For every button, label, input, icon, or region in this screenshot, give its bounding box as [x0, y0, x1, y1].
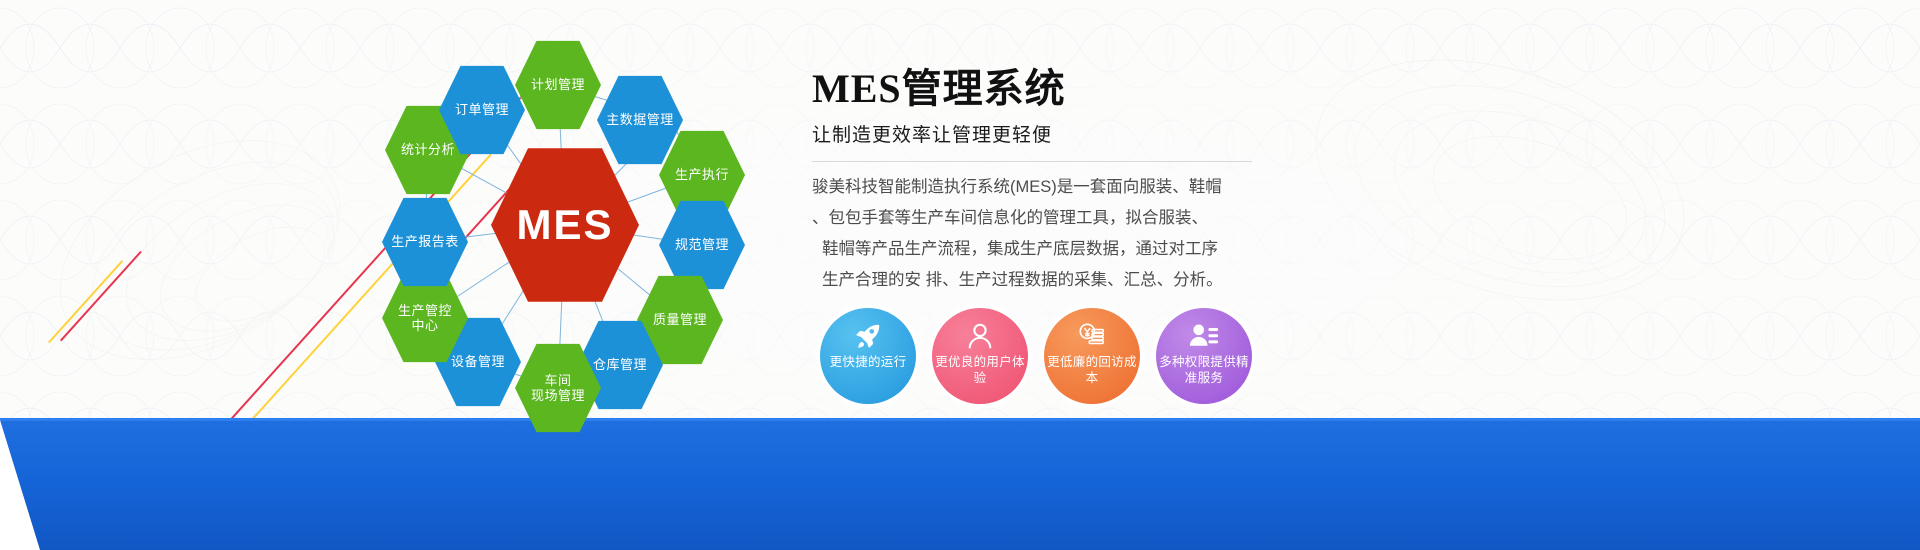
hex-label-control-center: 生产管控 中心: [398, 303, 452, 334]
page-title: MES管理系统: [812, 56, 1292, 114]
page-subtitle: 让制造更效率让管理更轻便: [812, 120, 1292, 147]
paragraph-line: 鞋帽等产品生产流程，集成生产底层数据，通过对工序: [812, 234, 1264, 265]
paragraph-line: 生产合理的安 排、生产过程数据的采集、汇总、分析。: [812, 265, 1264, 296]
paragraph-line: 骏美科技智能制造执行系统(MES)是一套面向服装、鞋帽: [812, 172, 1264, 203]
feature-badge-user-experience[interactable]: 更优良的用户体验: [932, 308, 1028, 404]
badge-caption: 更快捷的运行: [821, 354, 915, 370]
paragraph-line: 、包包手套等生产车间信息化的管理工具，拟合服装、: [812, 203, 1264, 234]
user-icon: [965, 321, 995, 351]
mes-hexagon-diagram: MES 计划管理 主数据管理 生产执行 规范管理 质量管理 仓库管理 车间 现场…: [330, 10, 800, 430]
feature-badge-row: 更快捷的运行 更优良的用户体验: [820, 308, 1252, 404]
rocket-icon: [853, 321, 883, 351]
feature-badge-permissions[interactable]: 多种权限提供精准服务: [1156, 308, 1252, 404]
user-list-icon: [1189, 321, 1219, 351]
banner-text-block: MES管理系统 让制造更效率让管理更轻便 骏美科技智能制造执行系统(MES)是一…: [812, 56, 1292, 296]
title-divider: [812, 161, 1252, 162]
bottom-blue-band: [0, 420, 1920, 550]
description-paragraph: 骏美科技智能制造执行系统(MES)是一套面向服装、鞋帽 、包包手套等生产车间信息…: [812, 172, 1264, 296]
mes-hero-banner: MES 计划管理 主数据管理 生产执行 规范管理 质量管理 仓库管理 车间 现场…: [0, 0, 1920, 550]
badge-caption: 更低廉的回访成本: [1045, 354, 1139, 386]
coins-yen-icon: [1077, 321, 1107, 351]
feature-badge-lower-cost[interactable]: 更低廉的回访成本: [1044, 308, 1140, 404]
feature-badge-faster-operation[interactable]: 更快捷的运行: [820, 308, 916, 404]
badge-caption: 多种权限提供精准服务: [1157, 354, 1251, 386]
hex-label-workshop: 车间 现场管理: [531, 373, 585, 404]
badge-caption: 更优良的用户体验: [933, 354, 1027, 386]
